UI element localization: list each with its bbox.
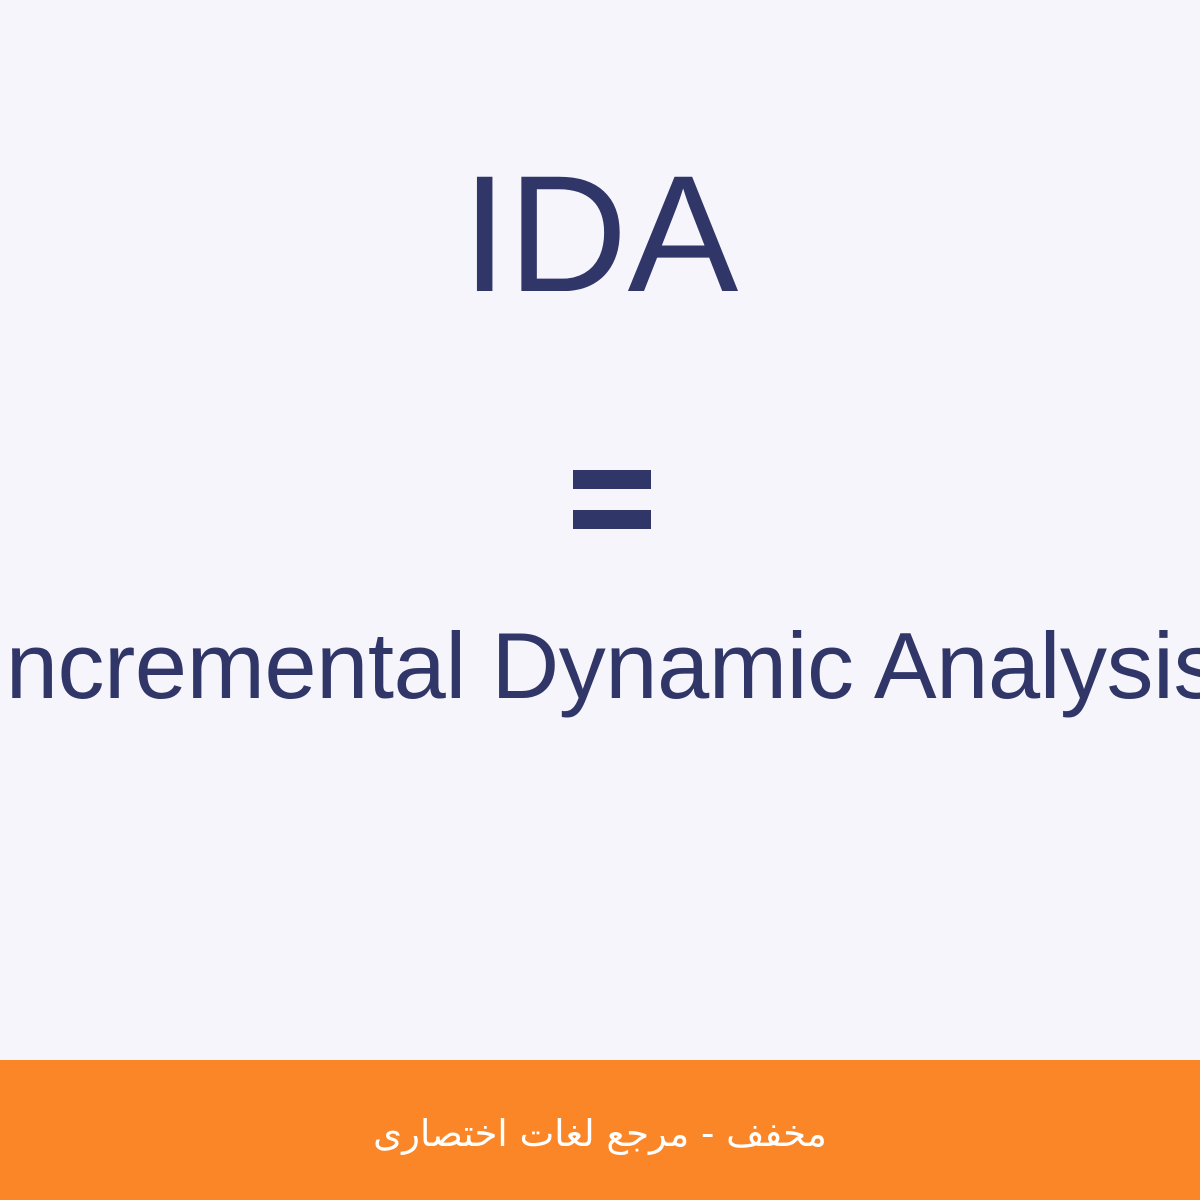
equals-sign-icon: = [573, 470, 651, 528]
footer-brand-text: مخفف - مرجع لغات اختصاری [373, 1102, 827, 1158]
abbreviation-title: IDA [0, 152, 1200, 318]
abbreviation-expansion: Incremental Dynamic Analysis [0, 614, 1200, 717]
equals-bar-top [573, 470, 651, 489]
equals-bar-bottom [573, 510, 651, 529]
abbreviation-card: IDA = Incremental Dynamic Analysis مخفف … [0, 0, 1200, 1200]
footer-bar: مخفف - مرجع لغات اختصاری [0, 1060, 1200, 1200]
card-content-area: IDA = Incremental Dynamic Analysis [0, 0, 1200, 1060]
